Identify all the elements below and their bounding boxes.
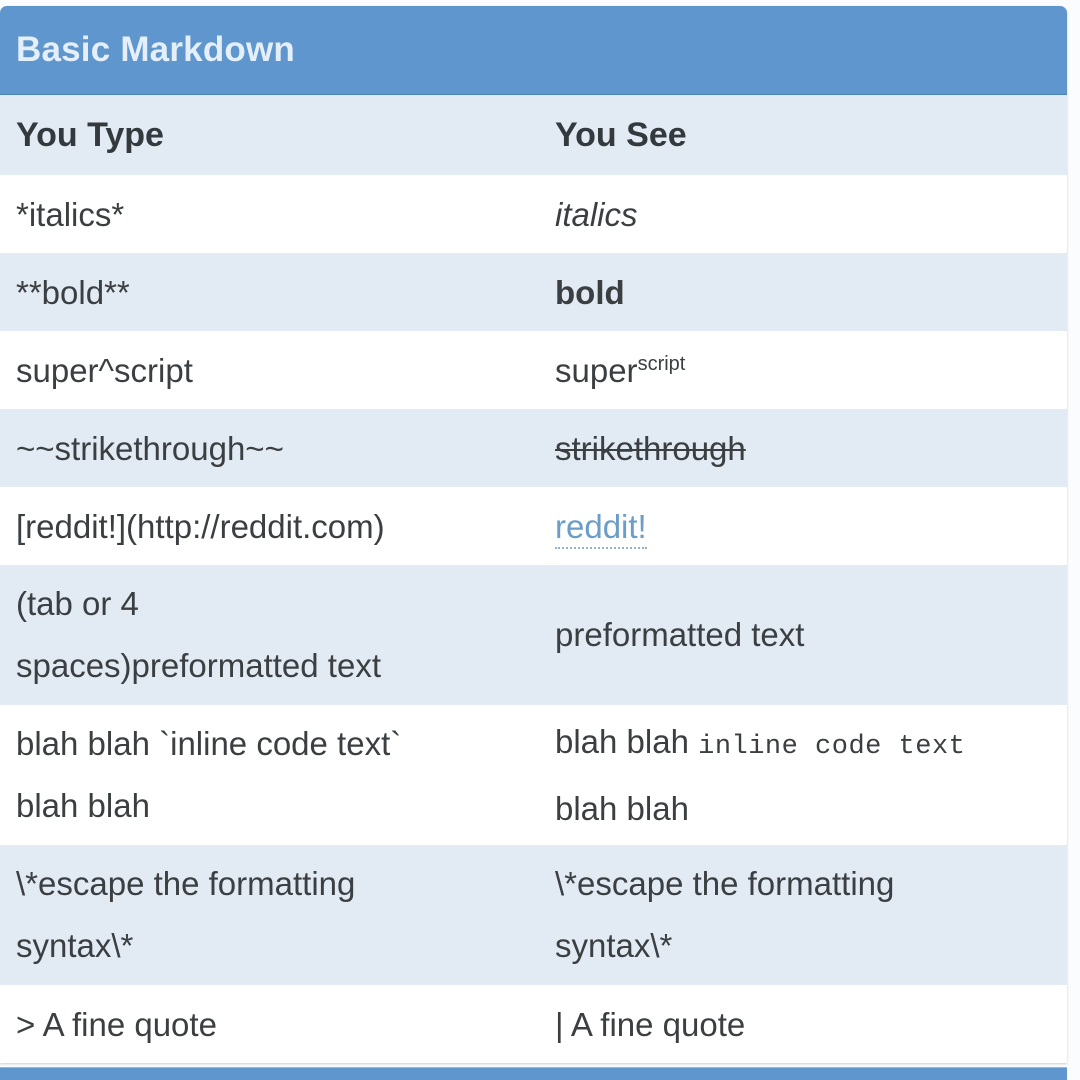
cell-you-type: \*escape the formatting syntax\*	[16, 853, 555, 977]
cell-you-see: reddit!	[555, 510, 1051, 543]
cell-you-see: superscript	[555, 354, 1051, 387]
cell-you-type: super^script	[16, 354, 555, 387]
cell-line: \*escape the formatting	[555, 853, 1051, 915]
table-row: ~~strikethrough~~ strikethrough	[0, 409, 1067, 487]
markdown-reference-page: Basic Markdown You Type You See *italics…	[0, 0, 1080, 1080]
cell-you-see: strikethrough	[555, 432, 1051, 465]
cell-line: blah blah	[16, 775, 555, 837]
cell-line: (tab or 4	[16, 573, 555, 635]
cell-you-see: italics	[555, 198, 1051, 231]
cell-you-type: **bold**	[16, 276, 555, 309]
preformatted-sample: preformatted text	[555, 604, 1051, 666]
cell-you-see: preformatted text	[555, 604, 1051, 666]
cell-you-type: (tab or 4 spaces)preformatted text	[16, 573, 555, 697]
table-row: > A fine quote | A fine quote	[0, 985, 1067, 1063]
table-header-row: You Type You See	[0, 95, 1067, 175]
table-row: *italics* italics	[0, 175, 1067, 253]
reddit-link[interactable]: reddit!	[555, 508, 647, 549]
cell-line: syntax\*	[555, 915, 1051, 977]
cell-line: blah blah	[555, 778, 1051, 840]
table-row: **bold** bold	[0, 253, 1067, 331]
cell-line: \*escape the formatting	[16, 853, 555, 915]
inline-code-sample: inline code text	[698, 732, 965, 762]
column-header-you-type: You Type	[16, 118, 555, 152]
cell-you-see: blah blah inline code text blah blah	[555, 711, 1051, 840]
markdown-table-card: Basic Markdown You Type You See *italics…	[0, 6, 1067, 1063]
cell-line: spaces)preformatted text	[16, 635, 555, 697]
page-title: Basic Markdown	[16, 30, 295, 70]
table-row: [reddit!](http://reddit.com) reddit!	[0, 487, 1067, 565]
table-row: \*escape the formatting syntax\* \*escap…	[0, 845, 1067, 985]
cell-you-type: > A fine quote	[16, 1008, 555, 1041]
cell-you-type: *italics*	[16, 198, 555, 231]
superscript-base: super	[555, 352, 638, 389]
cell-you-type: ~~strikethrough~~	[16, 432, 555, 465]
column-header-you-see: You See	[555, 118, 1051, 152]
cell-you-type: [reddit!](http://reddit.com)	[16, 510, 555, 543]
table-title-bar: Basic Markdown	[0, 6, 1067, 95]
cell-you-see: \*escape the formatting syntax\*	[555, 853, 1051, 977]
code-prefix-text: blah blah	[555, 723, 698, 760]
italic-sample: italics	[555, 196, 638, 233]
cell-line: blah blah `inline code text`	[16, 713, 555, 775]
table-row: super^script superscript	[0, 331, 1067, 409]
cell-line: syntax\*	[16, 915, 555, 977]
table-row: (tab or 4 spaces)preformatted text prefo…	[0, 565, 1067, 705]
bold-sample: bold	[555, 274, 625, 311]
cell-you-see: | A fine quote	[555, 1008, 1051, 1041]
superscript-sample: script	[638, 353, 686, 375]
cell-you-see: bold	[555, 276, 1051, 309]
strikethrough-sample: strikethrough	[555, 430, 746, 467]
footer-accent-bar	[0, 1067, 1067, 1080]
cell-line: blah blah inline code text	[555, 711, 1051, 778]
table-row: blah blah `inline code text` blah blah b…	[0, 705, 1067, 845]
cell-you-type: blah blah `inline code text` blah blah	[16, 713, 555, 837]
